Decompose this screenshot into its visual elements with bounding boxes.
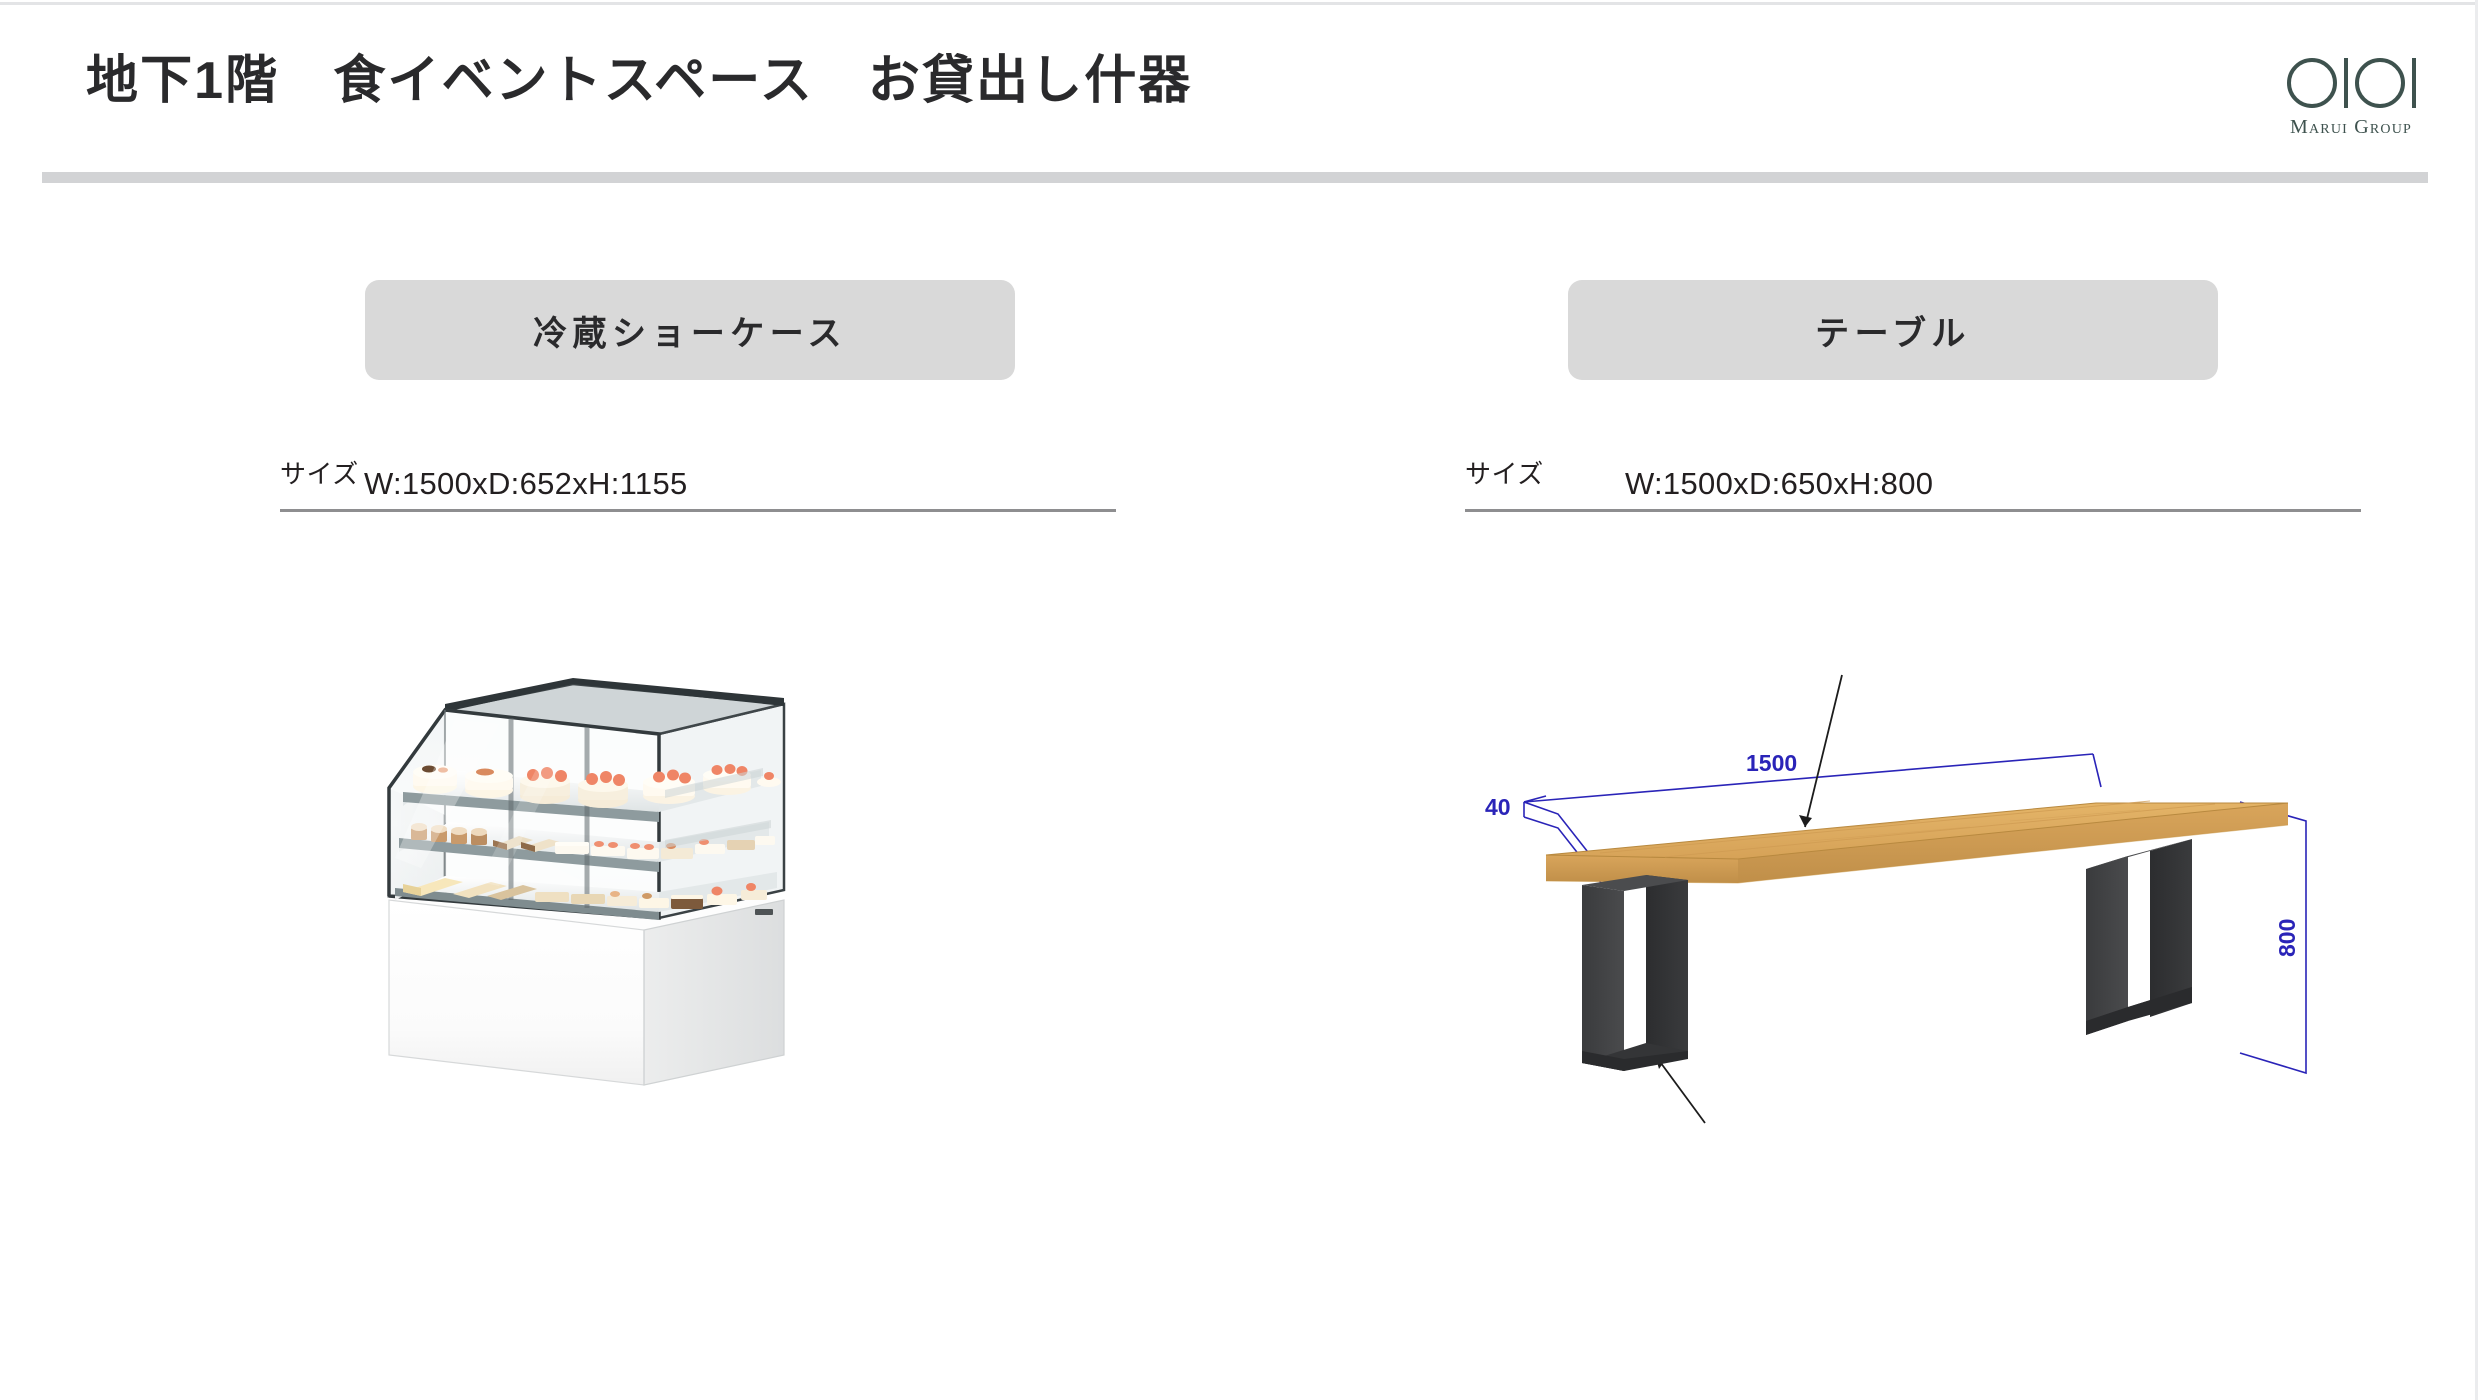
product-card-table: テーブル サイズ W:1500xD:650xH:800	[1568, 280, 2478, 380]
page-header: 地下1階 食イベントスペース お貸出し什器 Marui Group	[0, 0, 2478, 190]
product-title-pill-showcase: 冷蔵ショーケース	[365, 280, 1015, 380]
oioi-logo-icon	[2256, 52, 2446, 114]
size-value: W:1500xD:650xH:800	[1625, 466, 1933, 502]
header-divider	[42, 172, 2428, 183]
refrigerated-showcase-image	[359, 600, 1039, 1120]
size-row-showcase: サイズ W:1500xD:652xH:1155	[280, 454, 1120, 512]
product-title-label: 冷蔵ショーケース	[533, 306, 847, 355]
product-card-refrigerated-showcase: 冷蔵ショーケース サイズ W:1500xD:652xH:1155	[365, 280, 1365, 380]
product-title-pill-table: テーブル	[1568, 280, 2218, 380]
logo-wordmark: Marui Group	[2256, 116, 2446, 139]
marui-group-logo: Marui Group	[2256, 52, 2446, 148]
logo-bar-right	[2412, 58, 2416, 108]
dimension-label-height: 800	[2274, 919, 2300, 957]
table-cad-drawing: 1500 40 800	[1450, 655, 2370, 1125]
dimension-label-thickness: 40	[1485, 794, 1511, 820]
size-underline	[280, 509, 1116, 512]
page-title: 地下1階 食イベントスペース お貸出し什器	[86, 52, 1192, 112]
size-row-table: サイズ W:1500xD:650xH:800	[1465, 454, 2363, 512]
size-label: サイズ	[1465, 454, 1544, 491]
size-label: サイズ	[280, 454, 359, 491]
size-underline	[1465, 509, 2361, 512]
logo-circle-left	[2287, 58, 2337, 108]
product-title-label: テーブル	[1815, 306, 1971, 355]
logo-bar-left	[2344, 58, 2348, 108]
logo-circle-right	[2355, 58, 2405, 108]
size-value: W:1500xD:652xH:1155	[364, 466, 688, 502]
dimension-label-width: 1500	[1746, 750, 1797, 776]
